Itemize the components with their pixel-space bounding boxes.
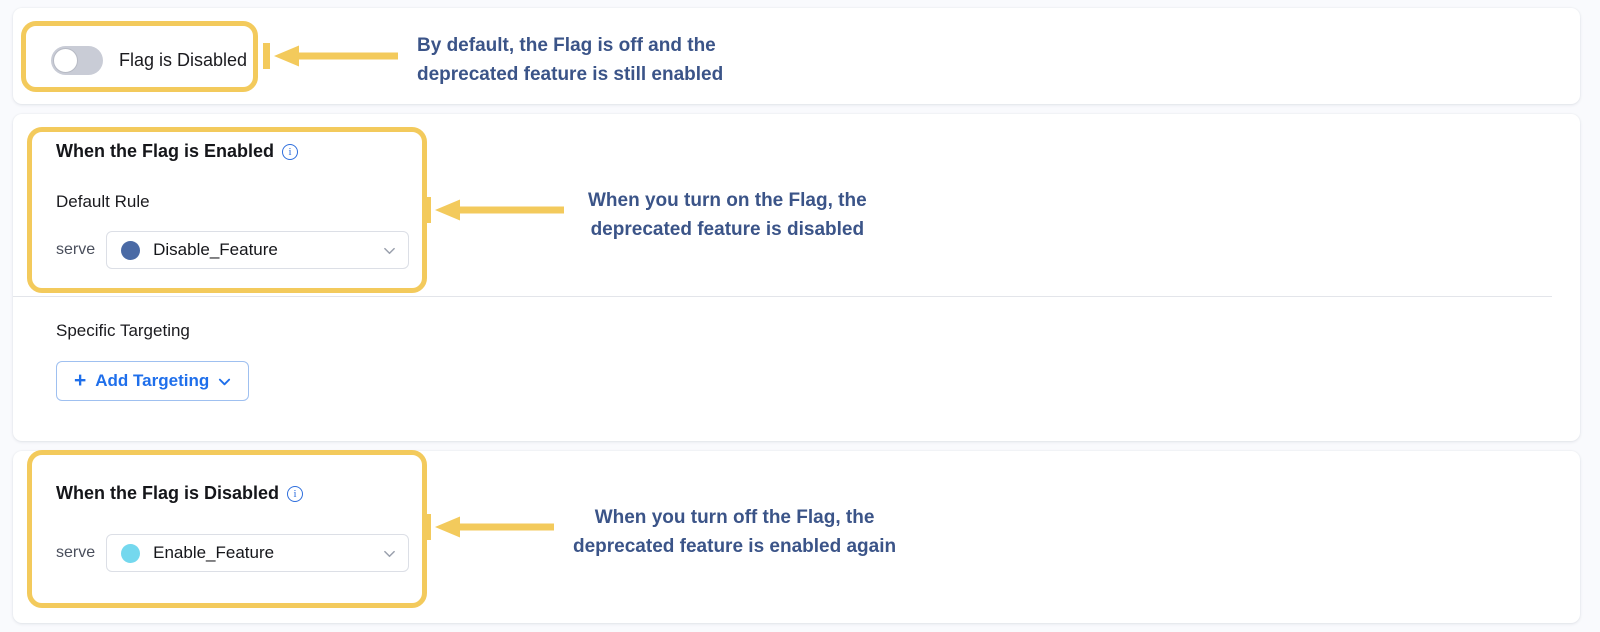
default-rule-label: Default Rule <box>56 192 150 212</box>
add-targeting-button[interactable]: + Add Targeting <box>56 361 249 401</box>
flag-toggle-card: Flag is Disabled <box>13 8 1580 104</box>
serve-label: serve <box>56 241 95 259</box>
default-rule-variation-select[interactable]: Disable_Feature <box>106 231 409 269</box>
variation-color-dot <box>121 544 140 563</box>
heading-text: When the Flag is Enabled <box>56 141 274 162</box>
annotation-turn-off: When you turn off the Flag, the deprecat… <box>573 503 896 562</box>
specific-targeting-label: Specific Targeting <box>56 321 190 341</box>
off-variation-select[interactable]: Enable_Feature <box>106 534 409 572</box>
variation-color-dot <box>121 241 140 260</box>
toggle-knob <box>53 48 78 73</box>
flag-toggle-row[interactable]: Flag is Disabled <box>51 46 247 75</box>
when-flag-disabled-heading: When the Flag is Disabled i <box>56 483 303 504</box>
chevron-down-icon[interactable] <box>383 547 396 560</box>
variation-select-value: Enable_Feature <box>153 543 370 563</box>
flag-toggle-label: Flag is Disabled <box>119 50 247 71</box>
disabled-serve-row: serve Enable_Feature <box>56 534 409 572</box>
add-targeting-label: Add Targeting <box>95 371 209 391</box>
default-rule-serve-row: serve Disable_Feature <box>56 231 409 269</box>
serve-label: serve <box>56 544 95 562</box>
chevron-down-icon <box>218 375 231 388</box>
heading-text: When the Flag is Disabled <box>56 483 279 504</box>
chevron-down-icon[interactable] <box>383 244 396 257</box>
annotation-turn-on: When you turn on the Flag, the deprecate… <box>588 186 867 245</box>
info-circle-icon[interactable]: i <box>287 486 303 502</box>
when-flag-enabled-card: When the Flag is Enabled i Default Rule … <box>13 114 1580 441</box>
section-divider <box>13 296 1552 297</box>
info-circle-icon[interactable]: i <box>282 144 298 160</box>
plus-icon: + <box>74 370 86 391</box>
annotation-default-off: By default, the Flag is off and the depr… <box>417 31 723 90</box>
toggle-switch-off-icon[interactable] <box>51 46 103 75</box>
when-flag-enabled-heading: When the Flag is Enabled i <box>56 141 298 162</box>
variation-select-value: Disable_Feature <box>153 240 370 260</box>
